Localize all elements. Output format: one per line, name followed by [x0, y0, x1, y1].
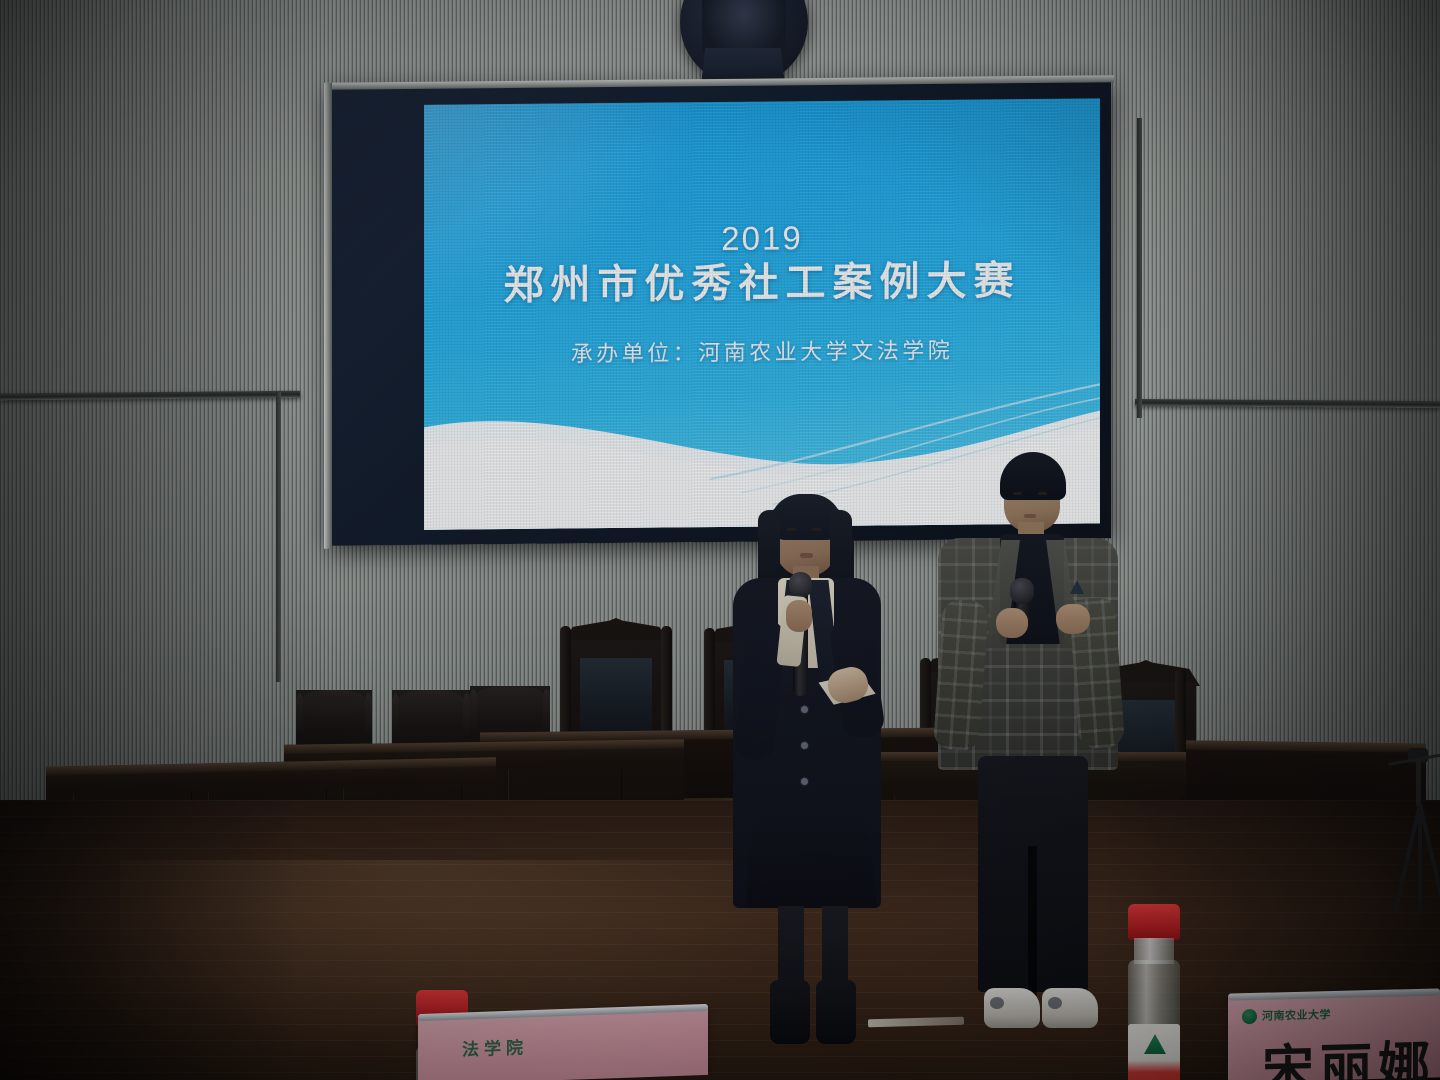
chair-finial-left [296, 693, 303, 739]
university-logo-icon [1242, 1008, 1257, 1023]
man-eye-left [1013, 492, 1022, 495]
man-sneaker-right [1042, 988, 1098, 1028]
floor-shadow-left [0, 800, 300, 1080]
name-card-name-text: 宋丽娜 [1262, 1024, 1436, 1080]
led-screen-frame: 2019 郑州市优秀社工案例大赛 承办单位：河南农业大学文法学院 [328, 78, 1111, 546]
woman-coat-hem [745, 800, 877, 908]
wall-post-right [1137, 118, 1142, 418]
name-card-org-text: 河南农业大学 [1262, 1006, 1331, 1024]
tripod-leg [1418, 804, 1422, 914]
wall-post-left [276, 392, 281, 682]
chair-finial-left [470, 689, 477, 735]
woman-eye-left [787, 528, 796, 531]
slide-subtitle: 承办单位：河南农业大学文法学院 [424, 331, 1100, 369]
man-sneaker-left [984, 988, 1040, 1028]
slide-year: 2019 [424, 218, 1100, 259]
woman-hand-left [786, 600, 812, 632]
microphone-icon [1010, 578, 1034, 604]
man-hand-left [996, 608, 1028, 638]
woman-leg-right [822, 906, 848, 988]
woman-coat-button [801, 742, 808, 749]
name-card-right[interactable]: 河南农业大学 宋丽娜 [1228, 993, 1440, 1080]
name-card-logo-row: 河南农业大学 [1242, 1006, 1331, 1024]
led-screen[interactable]: 2019 郑州市优秀社工案例大赛 承办单位：河南农业大学文法学院 [424, 98, 1100, 529]
woman-boot-right [816, 980, 856, 1044]
chair-finial-right [543, 689, 550, 735]
woman-coat-button [801, 706, 808, 713]
slide-title: 郑州市优秀社工案例大赛 [424, 257, 1100, 309]
man-trouser-gap [1028, 846, 1037, 996]
name-card-org-text: 法学院 [462, 1033, 528, 1060]
camera-tripod-icon [1392, 748, 1440, 916]
woman-mouth [800, 553, 813, 558]
photo-scene: 2019 郑州市优秀社工案例大赛 承办单位：河南农业大学文法学院 [0, 0, 1440, 1080]
woman-boot-left [770, 980, 810, 1044]
microphone-icon [789, 572, 812, 598]
name-card-left[interactable]: 法学院 [418, 1009, 708, 1080]
man-eye-right [1038, 492, 1047, 495]
chair-back [398, 690, 464, 731]
chair-finial-left [392, 693, 399, 739]
bottle-cap [1128, 904, 1180, 940]
man-mouth [1024, 514, 1036, 518]
tripod-column [1416, 760, 1421, 806]
slide-wave-decoration [424, 349, 1100, 530]
woman-coat-button [801, 778, 808, 785]
chair-finial-right [463, 693, 470, 739]
chair-back [476, 686, 543, 727]
woman-eye-right [812, 528, 821, 531]
chair-finial-right [365, 693, 372, 739]
woman-leg-left [778, 906, 804, 988]
chair-back [302, 690, 366, 731]
slide-text-block: 2019 郑州市优秀社工案例大赛 承办单位：河南农业大学文法学院 [424, 218, 1100, 369]
man-hand-right [1056, 604, 1090, 634]
